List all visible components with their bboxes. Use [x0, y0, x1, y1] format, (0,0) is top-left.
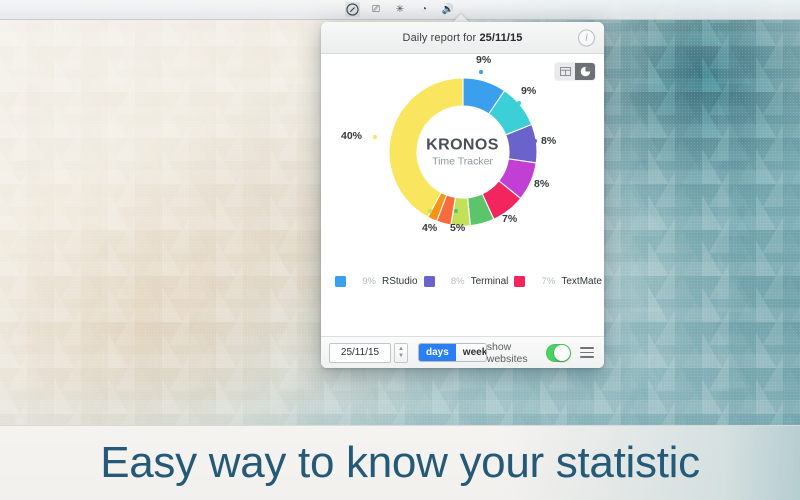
- panel-footer-toolbar: ▲ ▼ days weeks show websites: [321, 336, 604, 368]
- donut-chart: KRONOS Time Tracker: [383, 72, 543, 232]
- chart-label-dot: [454, 209, 458, 213]
- chart-area: KRONOS Time Tracker 9%9%8%8%7%5%4%40%: [321, 54, 604, 269]
- table-view-button[interactable]: [555, 63, 575, 80]
- chart-label-dot: [479, 70, 483, 74]
- chart-percent-label: 5%: [450, 222, 465, 234]
- segment-weeks[interactable]: weeks: [456, 344, 487, 361]
- show-websites-label: show websites: [487, 341, 540, 365]
- legend-percent: 9%: [352, 276, 376, 287]
- table-icon: [560, 67, 571, 76]
- kronos-clock-glyph: [346, 3, 359, 16]
- toggle-knob: [554, 345, 570, 361]
- pie-chart-icon: [580, 66, 591, 77]
- brand-subtitle: Time Tracker: [408, 156, 518, 168]
- info-icon[interactable]: i: [578, 29, 595, 46]
- legend-label: TextMate: [561, 276, 602, 287]
- show-websites-group: show websites: [487, 341, 596, 365]
- legend-item[interactable]: 8%Terminal: [424, 273, 509, 290]
- date-stepper: ▲ ▼: [329, 343, 408, 363]
- chart-percent-label: 8%: [541, 135, 556, 147]
- segment-days[interactable]: days: [419, 344, 456, 361]
- legend-label: RStudio: [382, 276, 418, 287]
- legend-color-swatch: [514, 276, 525, 287]
- chart-percent-label: 9%: [521, 85, 536, 97]
- promo-banner: Easy way to know your statistic: [0, 425, 800, 500]
- airplay-icon[interactable]: ⎚: [369, 2, 384, 17]
- stepper-down-icon[interactable]: ▼: [398, 353, 404, 360]
- kronos-report-popover: Daily report for 25/11/15 i: [321, 22, 604, 368]
- screenshot-root: ⎚✳◔🔊 Daily report for 25/11/15 i: [0, 0, 800, 500]
- brand-name: KRONOS: [408, 137, 518, 155]
- chart-legend: 9%RStudio8%Terminal7%TextMate4%www.cours…: [321, 269, 604, 296]
- menu-bar: ⎚✳◔🔊: [0, 0, 800, 20]
- date-stepper-arrows[interactable]: ▲ ▼: [394, 343, 408, 363]
- panel-header: Daily report for 25/11/15 i: [321, 22, 604, 54]
- panel-title-prefix: Daily report for: [403, 32, 480, 44]
- period-segmented-control: days weeks: [418, 343, 487, 362]
- legend-percent: 8%: [441, 276, 465, 287]
- chart-percent-label: 40%: [341, 130, 362, 142]
- chart-percent-label: 4%: [422, 222, 437, 234]
- bluetooth-icon[interactable]: ✳: [393, 2, 408, 17]
- date-input[interactable]: [329, 343, 391, 363]
- chart-percent-label: 9%: [476, 54, 491, 66]
- kronos-clock-icon[interactable]: [345, 2, 360, 17]
- stepper-up-icon[interactable]: ▲: [398, 346, 404, 353]
- legend-color-swatch: [424, 276, 435, 287]
- chart-label-dot: [533, 139, 537, 143]
- show-websites-toggle[interactable]: [546, 344, 571, 362]
- chart-percent-label: 8%: [534, 178, 549, 190]
- view-toggle-group: [555, 63, 595, 80]
- legend-percent: 7%: [531, 276, 555, 287]
- promo-banner-text: Easy way to know your statistic: [100, 438, 700, 488]
- chart-label-dot: [373, 135, 377, 139]
- chart-label-dot: [525, 177, 529, 181]
- panel-title-date: 25/11/15: [479, 32, 522, 44]
- page-title: Daily report for 25/11/15: [403, 32, 523, 44]
- chart-percent-label: 7%: [502, 213, 517, 225]
- donut-center-label: KRONOS Time Tracker: [408, 137, 518, 168]
- chart-view-button[interactable]: [575, 63, 595, 80]
- info-icon-glyph: i: [585, 32, 588, 44]
- legend-label: Terminal: [471, 276, 509, 287]
- menu-hamburger-icon[interactable]: [578, 345, 596, 359]
- legend-item[interactable]: 9%RStudio: [335, 273, 418, 290]
- legend-item[interactable]: 7%TextMate: [514, 273, 602, 290]
- chart-label-dot: [517, 101, 521, 105]
- time-machine-icon[interactable]: ◔: [417, 2, 432, 17]
- chart-label-dot: [428, 209, 432, 213]
- chart-label-dot: [498, 204, 502, 208]
- legend-color-swatch: [335, 276, 346, 287]
